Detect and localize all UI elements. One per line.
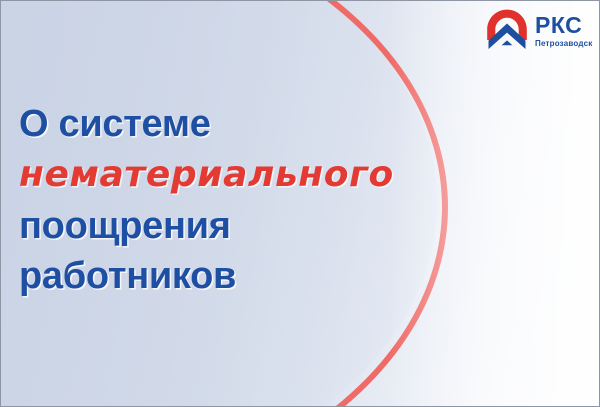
company-logo: РКС Петрозаводск: [484, 7, 592, 52]
presentation-slide: РКС Петрозаводск О системе нематериально…: [0, 0, 600, 407]
slide-title: О системе нематериального поощрения рабо…: [19, 99, 489, 301]
title-line-4: работников: [19, 251, 489, 301]
arch-chevron-logo-icon: [484, 7, 530, 52]
logo-wordmark: РКС Петрозаводск: [535, 12, 592, 48]
logo-city-label: Петрозаводск: [535, 40, 592, 48]
logo-abbreviation: РКС: [535, 14, 592, 37]
title-line-2-emphasis: нематериального: [19, 149, 489, 201]
title-line-1: О системе: [19, 99, 489, 149]
title-line-3: поощрения: [19, 201, 489, 251]
